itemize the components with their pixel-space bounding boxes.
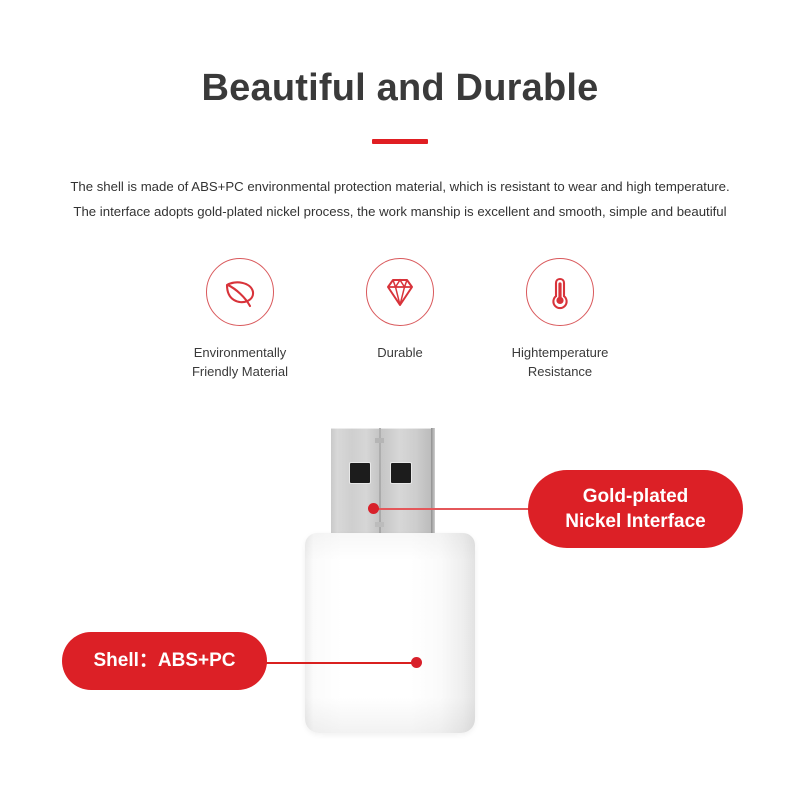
feature-label-line-2: Resistance xyxy=(485,362,635,381)
feature-label-line-2: Friendly Material xyxy=(165,362,315,381)
callout-marker-dot-interface xyxy=(368,503,379,514)
callout-leader-line-interface xyxy=(373,508,531,510)
callout-marker-dot-shell xyxy=(411,657,422,668)
diamond-icon xyxy=(380,272,420,312)
usb-connector-tab-top xyxy=(375,438,384,443)
page-title: Beautiful and Durable xyxy=(0,68,800,110)
feature-label-line-1: Environmentally xyxy=(165,343,315,362)
title-underline-rule xyxy=(372,139,428,144)
product-feature-page: Beautiful and Durable The shell is made … xyxy=(0,0,800,800)
callout-interface-line-2: Nickel Interface xyxy=(565,509,705,534)
description-line-1: The shell is made of ABS+PC environmenta… xyxy=(0,174,800,199)
usb-connector-metal xyxy=(331,428,435,538)
usb-connector-seam xyxy=(379,428,381,538)
thermometer-icon xyxy=(540,272,580,312)
callout-shell: Shell：ABS+PC xyxy=(62,632,267,690)
thermometer-icon-circle xyxy=(526,258,594,326)
feature-label-line-1: Hightemperature xyxy=(485,343,635,362)
diamond-icon-circle xyxy=(366,258,434,326)
usb-connector-notch-right xyxy=(390,462,412,484)
leaf-icon xyxy=(220,272,260,312)
callout-leader-line-shell xyxy=(262,662,416,664)
leaf-icon-circle xyxy=(206,258,274,326)
description-text: The shell is made of ABS+PC environmenta… xyxy=(0,174,800,224)
usb-connector-tab-bottom xyxy=(375,522,384,527)
feature-label: Hightemperature Resistance xyxy=(485,343,635,381)
usb-connector-notch-left xyxy=(349,462,371,484)
description-line-2: The interface adopts gold-plated nickel … xyxy=(0,199,800,224)
feature-label: Environmentally Friendly Material xyxy=(165,343,315,381)
usb-plastic-body xyxy=(305,533,475,733)
feature-environmentally-friendly: Environmentally Friendly Material xyxy=(165,258,315,381)
feature-list: Environmentally Friendly Material Durabl xyxy=(165,258,635,393)
usb-body-shading xyxy=(305,533,475,733)
callout-interface: Gold-plated Nickel Interface xyxy=(528,470,743,548)
callout-interface-line-1: Gold-plated xyxy=(565,484,705,509)
feature-durable: Durable xyxy=(325,258,475,362)
callout-shell-line-1: Shell：ABS+PC xyxy=(93,649,235,673)
feature-high-temperature-resistance: Hightemperature Resistance xyxy=(485,258,635,381)
feature-label: Durable xyxy=(325,343,475,362)
usb-connector-right-edge xyxy=(431,428,435,538)
feature-label-line-1: Durable xyxy=(325,343,475,362)
